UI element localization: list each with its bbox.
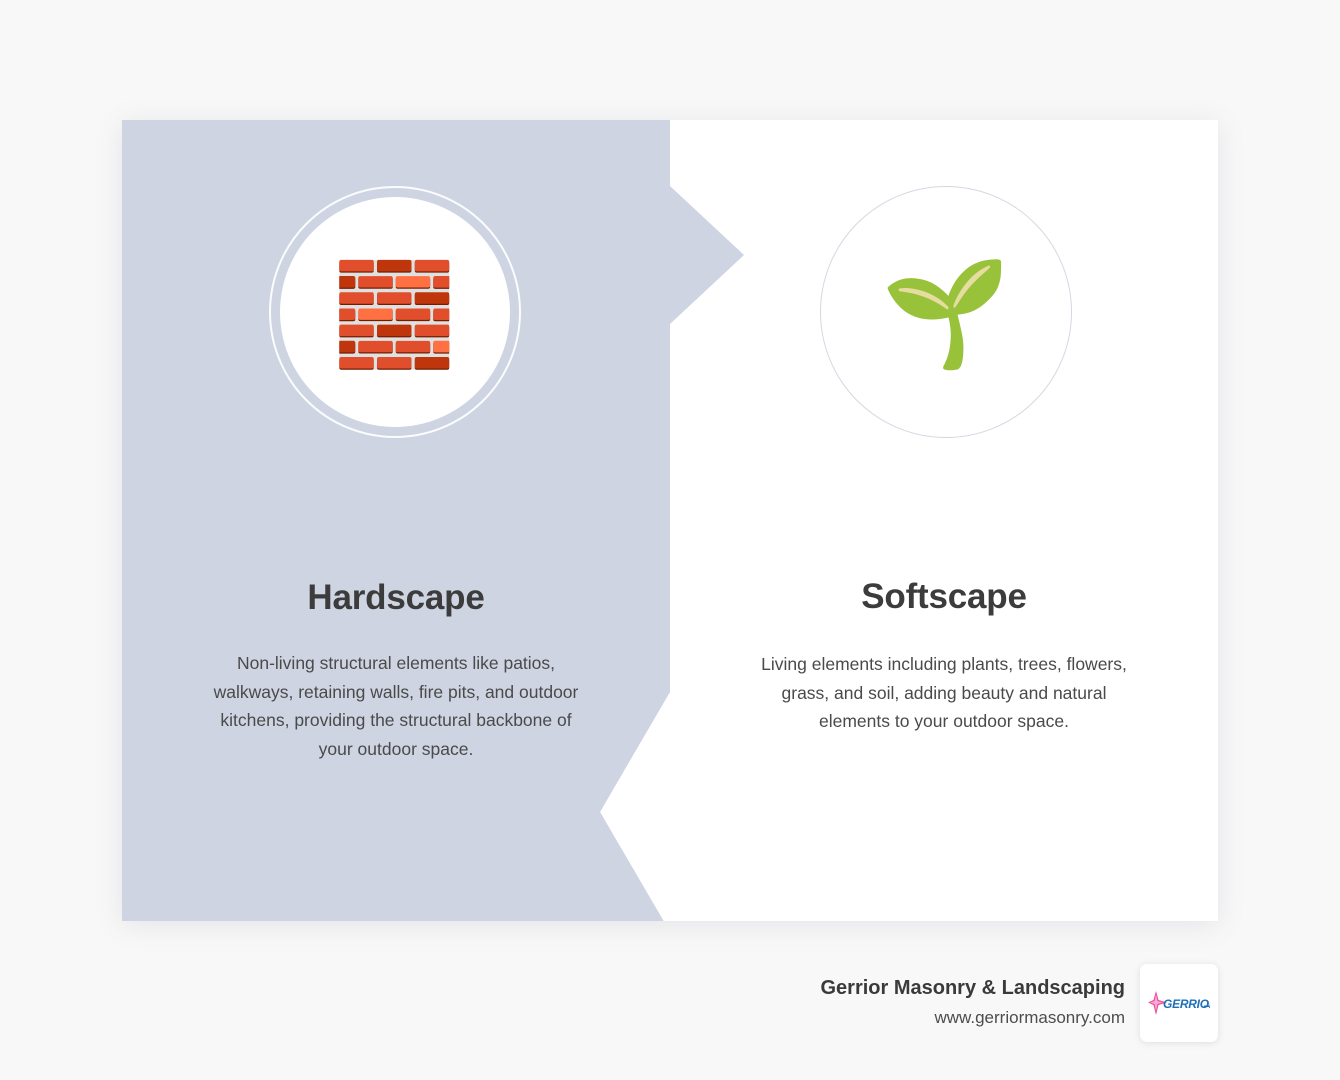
hardscape-icon-badge: 🧱: [269, 186, 521, 438]
comparison-card: 🧱 Hardscape Non-living structural elemen…: [122, 120, 1218, 921]
brand-name: Gerrior Masonry & Landscaping: [820, 975, 1125, 1002]
seedling-icon: 🌱: [881, 261, 1011, 365]
brick-icon: 🧱: [332, 265, 457, 365]
softscape-icon-badge: 🌱: [820, 186, 1072, 438]
svg-text:GERRIOR: GERRIOR: [1163, 997, 1210, 1011]
gerrior-logo-mark: GERRIOR: [1148, 990, 1210, 1016]
hardscape-title: Hardscape: [307, 578, 484, 618]
hardscape-panel: 🧱 Hardscape Non-living structural elemen…: [122, 120, 670, 921]
brand-url[interactable]: www.gerriormasonry.com: [820, 1005, 1125, 1031]
gerrior-logo: GERRIOR: [1140, 964, 1218, 1042]
softscape-title: Softscape: [861, 577, 1026, 617]
softscape-description: Living elements including plants, trees,…: [744, 650, 1144, 736]
hardscape-description: Non-living structural elements like pati…: [210, 649, 582, 763]
softscape-panel: 🌱 Softscape Living elements including pl…: [670, 120, 1218, 921]
footer-text-block: Gerrior Masonry & Landscaping www.gerrio…: [820, 975, 1125, 1031]
footer: Gerrior Masonry & Landscaping www.gerrio…: [820, 964, 1218, 1042]
